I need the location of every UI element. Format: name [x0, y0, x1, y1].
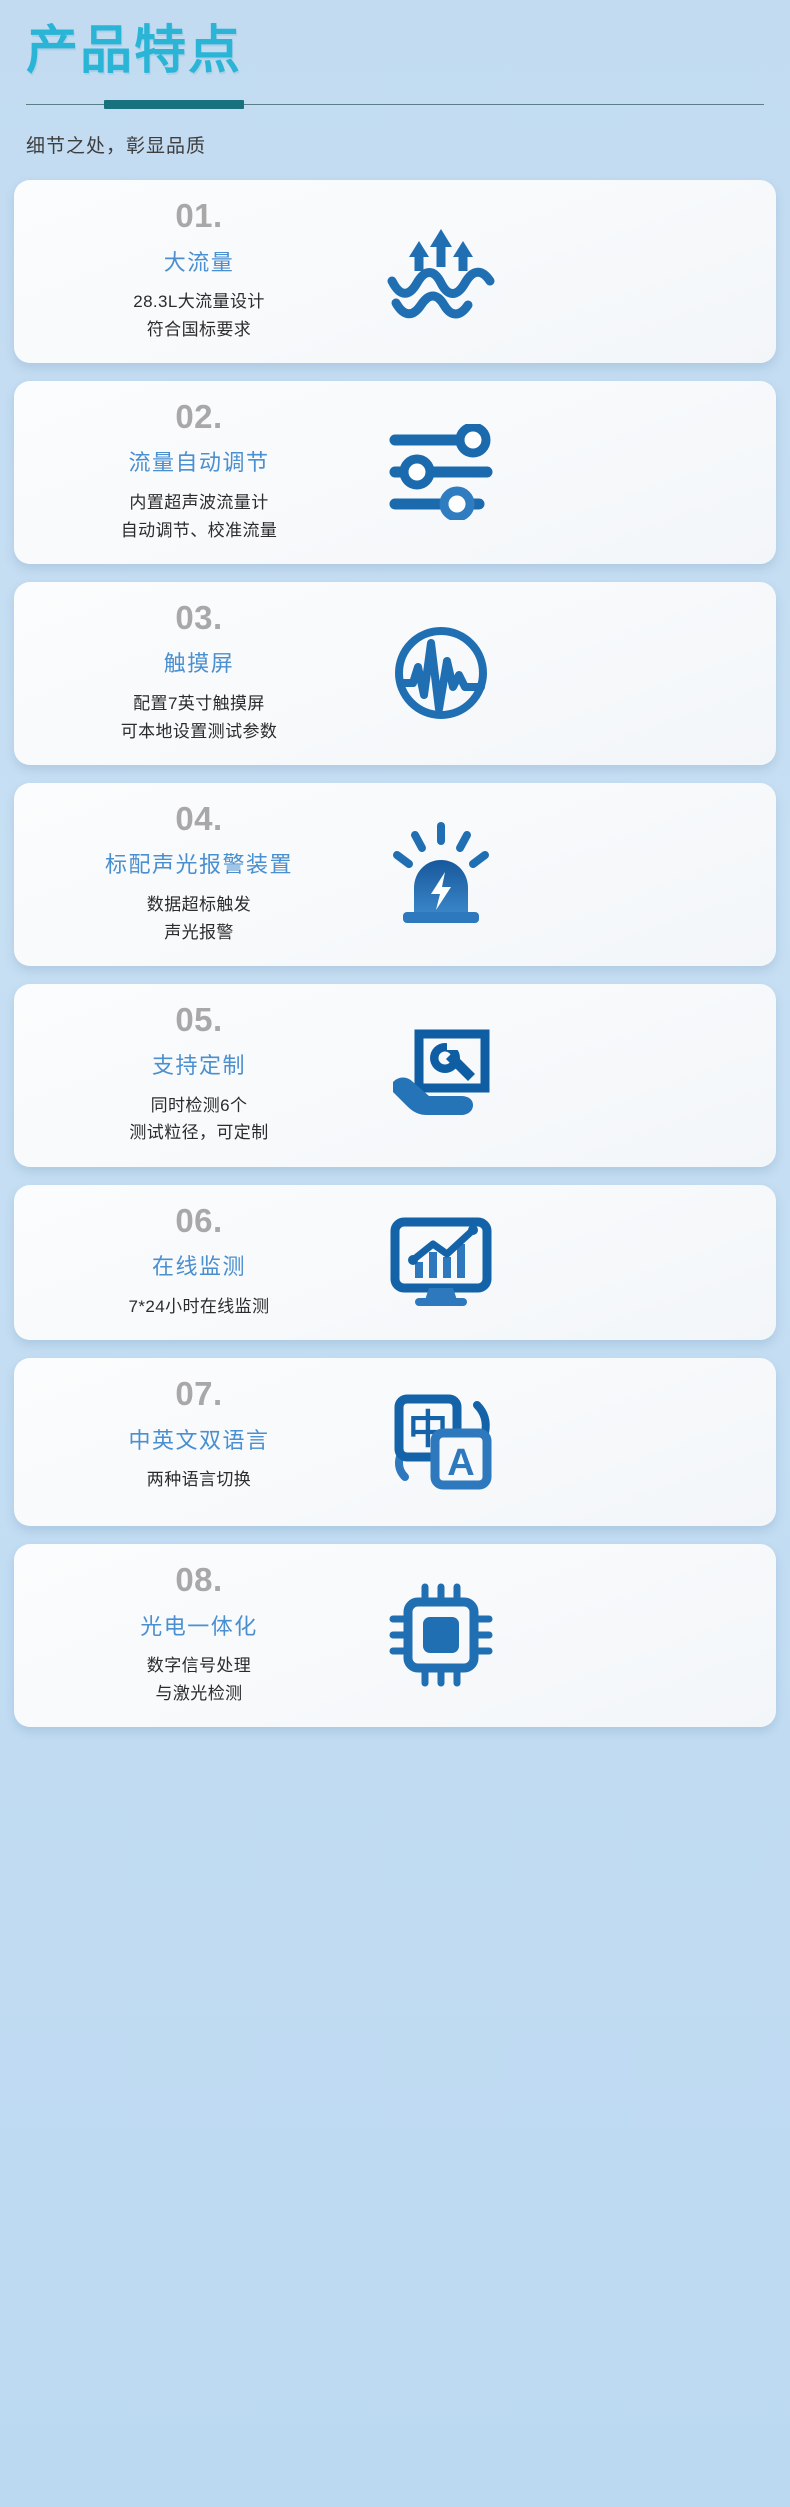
- feature-card-text: 06. 在线监测 7*24小时在线监测: [36, 1203, 366, 1320]
- feature-card-text: 07. 中英文双语言 两种语言切换: [36, 1376, 366, 1506]
- feature-card-text: 01. 大流量 28.3L大流量设计 符合国标要求: [36, 198, 366, 343]
- feature-card[interactable]: 07. 中英文双语言 两种语言切换 中 A: [14, 1358, 776, 1526]
- feature-card[interactable]: 08. 光电一体化 数字信号处理 与激光检测: [14, 1544, 776, 1727]
- feature-card-number: 04.: [175, 801, 222, 837]
- feature-card-title: 在线监测: [152, 1253, 246, 1282]
- feature-card-desc-line: 配置7英寸触摸屏: [121, 690, 278, 718]
- translate-language-icon: 中 A: [366, 1391, 516, 1491]
- feature-card-description: 内置超声波流量计 自动调节、校准流量: [121, 489, 278, 544]
- feature-card-text: 03. 触摸屏 配置7英寸触摸屏 可本地设置测试参数: [36, 600, 366, 745]
- hand-screen-wrench-icon: [366, 1026, 516, 1124]
- feature-card-desc-line: 数字信号处理: [147, 1652, 251, 1680]
- feature-card-title: 大流量: [164, 249, 235, 278]
- feature-card[interactable]: 04. 标配声光报警装置 数据超标触发 声光报警: [14, 783, 776, 966]
- feature-card-description: 7*24小时在线监测: [129, 1293, 270, 1321]
- feature-card-number: 06.: [175, 1203, 222, 1239]
- microchip-cpu-icon: [366, 1583, 516, 1687]
- feature-card-desc-line: 内置超声波流量计: [121, 489, 278, 517]
- feature-card-title: 中英文双语言: [128, 1427, 269, 1456]
- feature-card-desc-line: 28.3L大流量设计: [133, 288, 265, 316]
- feature-card-number: 03.: [175, 600, 222, 636]
- feature-card[interactable]: 01. 大流量 28.3L大流量设计 符合国标要求: [14, 180, 776, 363]
- translate-icon-en-glyph: A: [447, 1442, 474, 1484]
- title-divider: [26, 98, 764, 112]
- feature-card-text: 02. 流量自动调节 内置超声波流量计 自动调节、校准流量: [36, 399, 366, 544]
- page-header: 产品特点 细节之处，彰显品质: [0, 0, 790, 158]
- feature-card-desc-line: 可本地设置测试参数: [121, 718, 278, 746]
- waveform-circle-icon: [366, 623, 516, 723]
- feature-card-desc-line: 同时检测6个: [129, 1092, 268, 1120]
- feature-card-desc-line: 声光报警: [147, 919, 251, 947]
- feature-card-number: 08.: [175, 1562, 222, 1598]
- feature-card-desc-line: 自动调节、校准流量: [121, 517, 278, 545]
- feature-card[interactable]: 03. 触摸屏 配置7英寸触摸屏 可本地设置测试参数: [14, 582, 776, 765]
- feature-card-desc-line: 符合国标要求: [133, 316, 265, 344]
- feature-card-desc-line: 两种语言切换: [147, 1466, 251, 1494]
- feature-card-description: 配置7英寸触摸屏 可本地设置测试参数: [121, 690, 278, 745]
- feature-card-title: 触摸屏: [164, 650, 235, 679]
- water-waves-up-arrows-icon: [366, 223, 516, 319]
- feature-card-desc-line: 7*24小时在线监测: [129, 1293, 270, 1321]
- page-title: 产品特点: [26, 22, 764, 80]
- sliders-adjust-icon: [366, 424, 516, 520]
- feature-card-description: 数字信号处理 与激光检测: [147, 1652, 251, 1707]
- feature-card-desc-line: 数据超标触发: [147, 891, 251, 919]
- feature-card-title: 标配声光报警装置: [105, 851, 293, 880]
- feature-card-number: 01.: [175, 198, 222, 234]
- feature-card[interactable]: 02. 流量自动调节 内置超声波流量计 自动调节、校准流量: [14, 381, 776, 564]
- feature-card-number: 07.: [175, 1376, 222, 1412]
- feature-card-description: 两种语言切换: [147, 1466, 251, 1494]
- feature-card-description: 28.3L大流量设计 符合国标要求: [133, 288, 265, 343]
- feature-card-title: 支持定制: [152, 1052, 246, 1081]
- feature-card-text: 04. 标配声光报警装置 数据超标触发 声光报警: [36, 801, 366, 946]
- feature-card-title: 流量自动调节: [128, 449, 269, 478]
- feature-card-description: 同时检测6个 测试粒径，可定制: [129, 1092, 268, 1147]
- feature-card-list: 01. 大流量 28.3L大流量设计 符合国标要求 02. 流量自动调节: [0, 180, 790, 1745]
- feature-card[interactable]: 05. 支持定制 同时检测6个 测试粒径，可定制: [14, 984, 776, 1167]
- page-subtitle: 细节之处，彰显品质: [26, 131, 764, 158]
- feature-card-text: 05. 支持定制 同时检测6个 测试粒径，可定制: [36, 1002, 366, 1147]
- feature-card-number: 05.: [175, 1002, 222, 1038]
- feature-card-desc-line: 与激光检测: [147, 1680, 251, 1708]
- feature-card-text: 08. 光电一体化 数字信号处理 与激光检测: [36, 1562, 366, 1707]
- feature-card-description: 数据超标触发 声光报警: [147, 891, 251, 946]
- feature-card-number: 02.: [175, 399, 222, 435]
- feature-card[interactable]: 06. 在线监测 7*24小时在线监测: [14, 1185, 776, 1340]
- monitor-chart-icon: [366, 1216, 516, 1308]
- divider-accent-bar: [104, 100, 244, 109]
- feature-card-desc-line: 测试粒径，可定制: [129, 1119, 268, 1147]
- feature-card-title: 光电一体化: [140, 1613, 258, 1642]
- siren-alarm-icon: [366, 822, 516, 926]
